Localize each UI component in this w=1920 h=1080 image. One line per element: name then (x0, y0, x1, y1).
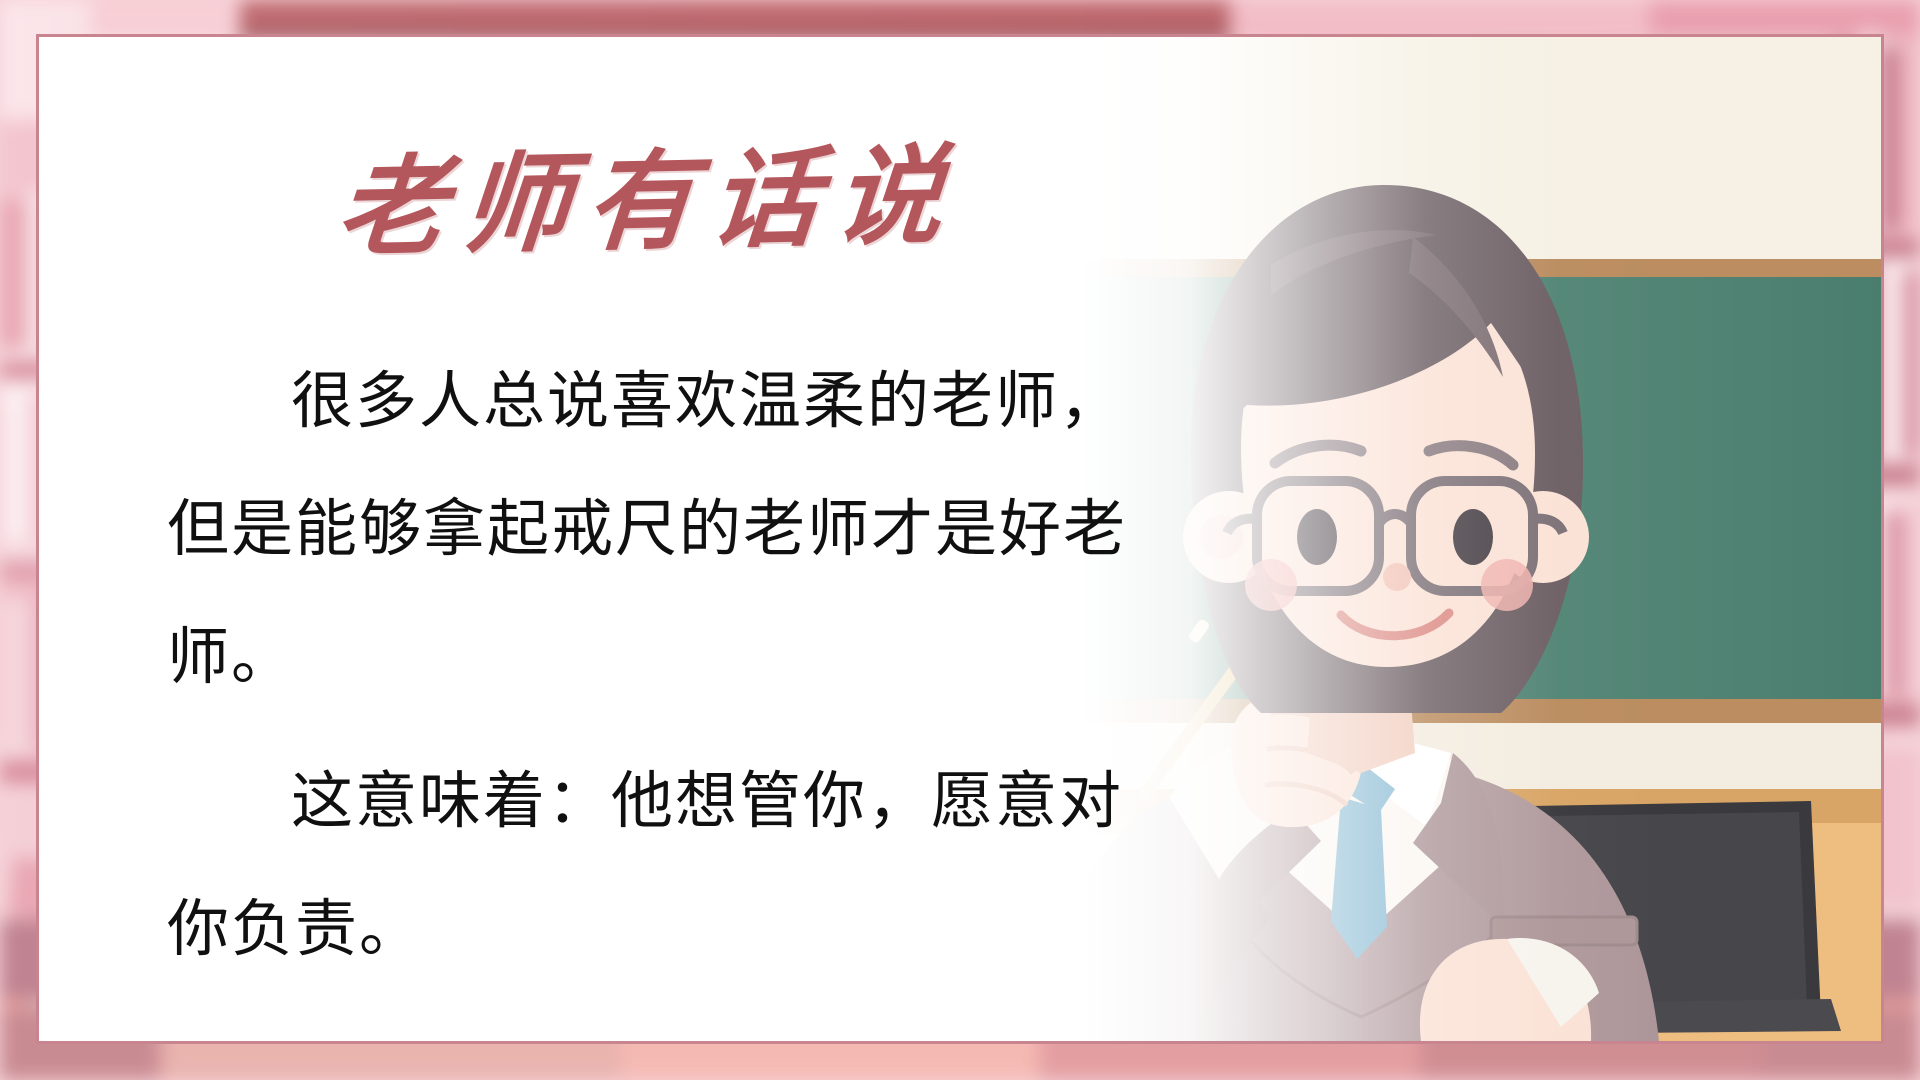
content-card: 老师有话说 很多人总说喜欢温柔的老师，但是能够拿起戒尺的老师才是好老师。 这意味… (36, 34, 1884, 1044)
blush-right (1481, 559, 1533, 611)
blush-left (1245, 559, 1297, 611)
eye-right (1453, 509, 1493, 565)
body-copy: 很多人总说喜欢温柔的老师，但是能够拿起戒尺的老师才是好老师。 这意味着：他想管你… (167, 337, 1147, 1044)
nose (1383, 563, 1411, 591)
page-title: 老师有话说 (332, 109, 966, 278)
slide-canvas: 老师有话说 很多人总说喜欢温柔的老师，但是能够拿起戒尺的老师才是好老师。 这意味… (0, 0, 1920, 1080)
eye-left (1297, 509, 1337, 565)
paragraph-3: 有人管你，是一件幸福的事! (167, 1009, 1147, 1044)
paragraph-1: 很多人总说喜欢温柔的老师，但是能够拿起戒尺的老师才是好老师。 (167, 337, 1147, 721)
paragraph-2: 这意味着：他想管你，愿意对你负责。 (167, 737, 1147, 993)
